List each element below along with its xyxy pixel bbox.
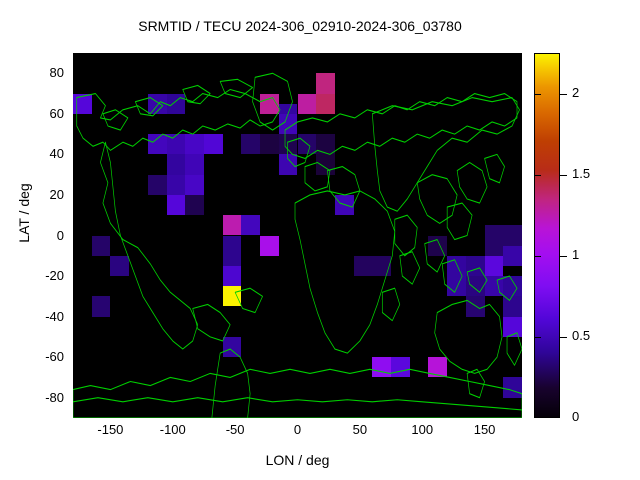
heatmap-cell [260, 236, 279, 256]
heatmap-cell [298, 134, 317, 154]
x-tick-label: 0 [268, 422, 328, 437]
colorbar[interactable] [534, 53, 560, 418]
colorbar-tick-inner [535, 94, 541, 95]
colorbar-tick-label: 0.5 [572, 328, 590, 343]
y-tick-label: -80 [6, 390, 64, 405]
heatmap-cell [335, 195, 354, 215]
heatmap-cell [372, 256, 391, 276]
heatmap-cell [279, 114, 298, 134]
y-axis-label: LAT / deg [16, 143, 32, 283]
heatmap-cell [485, 276, 504, 296]
y-tick-label: 20 [6, 187, 64, 202]
heatmap-cell [148, 134, 167, 154]
x-tick-label: -100 [143, 422, 203, 437]
heatmap-cell [316, 134, 335, 154]
heatmap-cell [503, 296, 522, 316]
heatmap-cell [485, 256, 504, 276]
heatmap-cell [185, 154, 204, 174]
colorbar-tick [560, 337, 567, 338]
heatmap-cell [92, 296, 111, 316]
x-tick-label: 150 [455, 422, 515, 437]
heatmap-cell [485, 225, 504, 245]
heatmap-cell [185, 175, 204, 195]
heatmap-cell [316, 154, 335, 174]
heatmap-cell [391, 357, 410, 377]
heatmap-cell [223, 266, 242, 286]
y-tick-label: -60 [6, 349, 64, 364]
heatmap-cell [185, 134, 204, 154]
heatmap-cell [223, 236, 242, 256]
heatmap-cell [167, 175, 186, 195]
heatmap-cell [447, 256, 466, 276]
heatmap-cell [204, 134, 223, 154]
colorbar-tick-label: 1.5 [572, 166, 590, 181]
heatmap-cell [279, 134, 298, 154]
heatmap-cell [167, 154, 186, 174]
heatmap-cell [503, 317, 522, 337]
heatmap-cell [185, 195, 204, 215]
figure-canvas: SRMTID / TECU 2024-306_02910-2024-306_03… [0, 0, 640, 480]
x-tick-label: -150 [80, 422, 140, 437]
colorbar-tick-inner [535, 256, 541, 257]
colorbar-tick-label: 1 [572, 247, 579, 262]
heatmap-cell [92, 236, 111, 256]
heatmap-cell [260, 134, 279, 154]
heatmap-cell [148, 175, 167, 195]
heatmap-cell [316, 73, 335, 93]
heatmap-cell [148, 94, 167, 114]
heatmap-cell [354, 256, 373, 276]
heatmap-cell [241, 134, 260, 154]
y-tick-label: 80 [6, 65, 64, 80]
heatmap-cell [167, 134, 186, 154]
heatmap-cell [223, 337, 242, 357]
heatmap-cell [503, 276, 522, 296]
y-tick-label: 40 [6, 146, 64, 161]
y-tick-label: 0 [6, 228, 64, 243]
y-tick-label: -20 [6, 268, 64, 283]
heatmap-cell [447, 276, 466, 296]
heatmap-cell [466, 296, 485, 316]
map-heatmap-axes[interactable] [73, 53, 522, 418]
heatmap-cell [223, 215, 242, 235]
heatmap-cell [466, 256, 485, 276]
heatmap-cell [428, 357, 447, 377]
heatmap-cell [428, 236, 447, 256]
heatmap-cell [503, 246, 522, 266]
heatmap-cell [110, 256, 129, 276]
heatmap-cell-layer [73, 53, 522, 418]
colorbar-tick [560, 256, 567, 257]
colorbar-tick-inner [535, 337, 541, 338]
heatmap-cell [466, 276, 485, 296]
heatmap-cell [298, 94, 317, 114]
heatmap-cell [73, 94, 92, 114]
colorbar-tick-label: 0 [572, 409, 579, 424]
y-tick-label: 60 [6, 106, 64, 121]
y-tick-label: -40 [6, 309, 64, 324]
page-title: SRMTID / TECU 2024-306_02910-2024-306_03… [0, 18, 600, 34]
colorbar-tick-inner [535, 175, 541, 176]
heatmap-cell [372, 357, 391, 377]
colorbar-gradient [535, 54, 559, 417]
heatmap-cell [167, 195, 186, 215]
heatmap-cell [241, 215, 260, 235]
heatmap-cell [503, 377, 522, 397]
colorbar-tick [560, 175, 567, 176]
colorbar-tick-label: 2 [572, 85, 579, 100]
x-tick-label: 100 [392, 422, 452, 437]
x-axis-label: LON / deg [73, 452, 522, 468]
heatmap-cell [279, 154, 298, 174]
x-tick-label: 50 [330, 422, 390, 437]
colorbar-tick [560, 94, 567, 95]
x-tick-label: -50 [205, 422, 265, 437]
heatmap-cell [223, 286, 242, 306]
heatmap-cell [503, 225, 522, 245]
heatmap-cell [167, 94, 186, 114]
heatmap-cell [316, 94, 335, 114]
heatmap-cell [260, 94, 279, 114]
